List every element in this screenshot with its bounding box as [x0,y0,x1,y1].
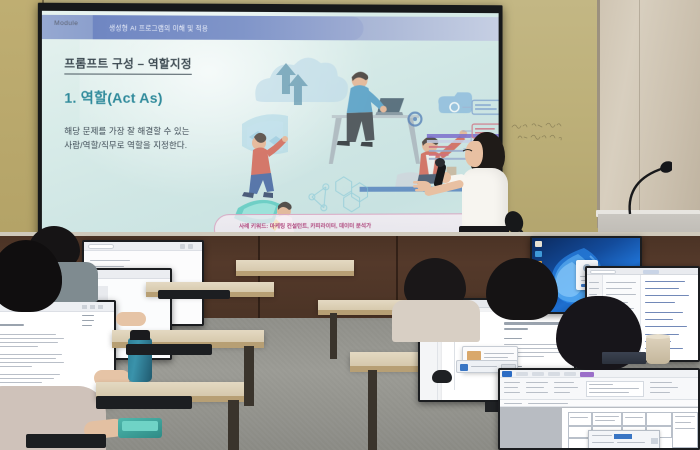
slide-body-line-2: 사람/역할/직무로 역할을 지정한다. [64,138,189,152]
keyboard-mid-left[interactable] [126,344,212,355]
monitor-bottom-right[interactable] [498,368,700,450]
desk-edge [236,271,354,276]
molecule-icon [309,177,368,212]
desk-leg [244,346,254,406]
mouse[interactable] [432,370,452,383]
gooseneck-microphone [612,150,672,220]
student-right-front-head [486,258,558,320]
microphone-head [435,158,445,167]
spreadsheet-dialog[interactable] [588,430,660,448]
keyboard-front-left[interactable] [96,396,192,409]
slide-body-text: 해당 문제를 가장 잘 해결할 수 있는 사람/역할/직무로 역할을 지정한다. [64,124,189,152]
student-hand-mid [116,312,146,326]
presenter-glasses [462,148,482,156]
callout-line-1: 사례 키워드: 마케팅 컨설턴트, 카피라이터, 데이터 분석가 [239,222,371,231]
slide-subheading: 1. 역할(Act As) [64,88,162,108]
wainscot-seam [258,236,260,326]
keyboard-front[interactable] [26,434,106,448]
student-center-body [392,300,480,342]
mug-rim [646,334,670,339]
wall-handwriting-note [506,118,576,152]
wall-seam [597,0,600,228]
desk-leg [330,313,337,359]
cloud-sync-icon [255,57,348,105]
slide-heading: 프롬프트 구성 – 역할지정 [64,55,191,74]
presentation-slide: Module 생성형 AI 프로그램의 이해 및 적용 프롬프트 구성 – 역할… [42,11,499,255]
slide-body-line-1: 해당 문제를 가장 잘 해결할 수 있는 [64,124,189,138]
projection-screen: Module 생성형 AI 프로그램의 이해 및 적용 프롬프트 구성 – 역할… [38,3,503,264]
keyboard-back-left[interactable] [158,290,230,299]
spreadsheet-screen [500,370,698,448]
desk-leg [228,400,239,450]
tumbler-lid [130,330,150,340]
slide-banner-title: 생성형 AI 프로그램의 이해 및 적용 [109,22,208,32]
presenter-hand-gesture [412,176,432,194]
classroom-scene: Module 생성형 AI 프로그램의 이해 및 적용 프롬프트 구성 – 역할… [0,0,700,450]
smartphone-screen [122,421,158,431]
notebook [602,352,646,364]
beige-mug [646,336,670,364]
desk-leg [368,370,377,450]
slide-module-label: Module [54,20,78,27]
person-blue-panel [242,114,288,198]
